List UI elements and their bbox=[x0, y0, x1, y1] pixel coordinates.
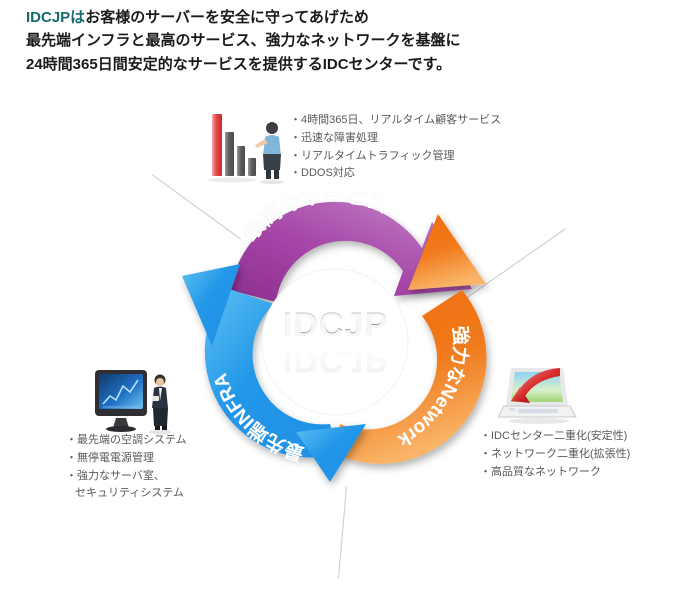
list-item: ・無停電電源管理 bbox=[66, 450, 187, 468]
list-item: ・DDOS対応 bbox=[290, 165, 501, 183]
list-item: セキュリティシステム bbox=[66, 485, 187, 503]
headline-line-1-rest: お客様のサーバーを安全に守ってあげため bbox=[85, 9, 369, 26]
headline-line-2: 最先端インフラと最高のサービス、強力なネットワークを基盤に bbox=[26, 29, 666, 52]
headline-line-1: IDCJPはお客様のサーバーを安全に守ってあげため bbox=[26, 6, 666, 29]
list-item: ・IDCセンター二重化(安定性) bbox=[480, 428, 630, 446]
infographic-canvas: IDCJPはお客様のサーバーを安全に守ってあげため 最先端インフラと最高のサービ… bbox=[0, 0, 680, 600]
laptop-red-arrow-icon bbox=[498, 362, 580, 428]
cycle-inner-disc bbox=[262, 269, 408, 415]
bullets-infra: ・最先端の空調システム ・無停電電源管理 ・強力なサーバ室、 セキュリティシステ… bbox=[66, 432, 187, 503]
cycle-diagram: 最高のサービス 強力なNetwork 最先端INFRA bbox=[170, 192, 500, 492]
list-item: ・迅速な障害処理 bbox=[290, 130, 501, 148]
bullets-network: ・IDCセンター二重化(安定性) ・ネットワーク二重化(拡張性) ・高品質なネッ… bbox=[480, 428, 630, 481]
list-item: ・ネットワーク二重化(拡張性) bbox=[480, 446, 630, 464]
list-item: ・高品質なネットワーク bbox=[480, 464, 630, 482]
bullets-service: ・4時間365日、リアルタイム顧客サービス ・迅速な障害処理 ・リアルタイムトラ… bbox=[290, 112, 501, 183]
page-title: IDCJPはお客様のサーバーを安全に守ってあげため 最先端インフラと最高のサービ… bbox=[26, 6, 666, 76]
headline-line-3: 24時間365日間安定的なサービスを提供するIDCセンターです。 bbox=[26, 53, 666, 76]
connector-line-infra bbox=[338, 487, 347, 579]
desktop-monitor-businessman-icon bbox=[92, 366, 180, 438]
bar-chart-presenter-icon bbox=[206, 106, 292, 184]
list-item: ・リアルタイムトラフィック管理 bbox=[290, 148, 501, 166]
list-item: ・4時間365日、リアルタイム顧客サービス bbox=[290, 112, 501, 130]
list-item: ・最先端の空調システム bbox=[66, 432, 187, 450]
brand-name: IDCJPは bbox=[26, 9, 85, 26]
list-item: ・強力なサーバ室、 bbox=[66, 468, 187, 486]
